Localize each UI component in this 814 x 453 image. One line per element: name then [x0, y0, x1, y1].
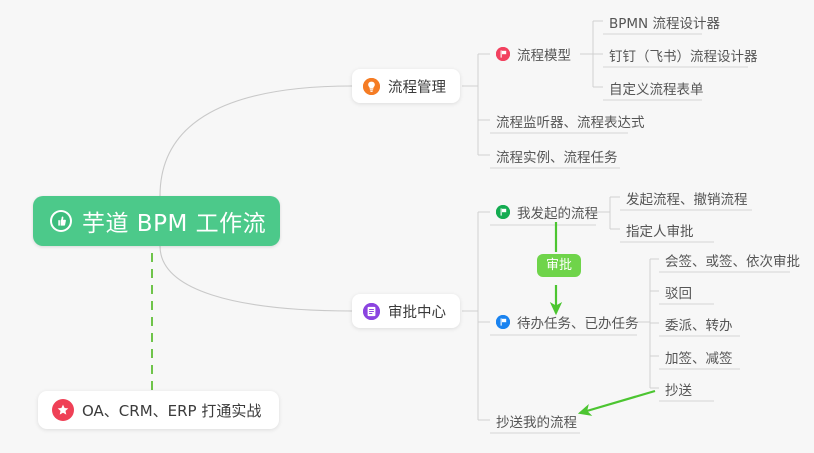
node-custom-process-form[interactable]: 自定义流程表单 [603, 78, 710, 102]
note-label: OA、CRM、ERP 打通实战 [82, 400, 261, 421]
branch-node-approval-center[interactable]: 审批中心 [352, 294, 460, 328]
node-todo-done-tasks[interactable]: 待办任务、已办任务 [490, 312, 645, 336]
document-icon [363, 303, 380, 320]
node-countersign-orsign-sequential[interactable]: 会签、或签、依次审批 [659, 250, 806, 274]
node-label-todo-done-tasks: 待办任务、已办任务 [517, 312, 639, 332]
node-delegate-transfer[interactable]: 委派、转办 [659, 314, 739, 338]
node-process-listener-expression[interactable]: 流程监听器、流程表达式 [490, 111, 651, 135]
star-icon [52, 399, 74, 421]
node-label-my-initiated-processes: 我发起的流程 [517, 202, 598, 222]
thumbs-up-icon [50, 210, 72, 232]
node-add-remove-signer[interactable]: 加签、减签 [659, 347, 739, 371]
flag-icon [496, 315, 510, 329]
node-label-process-model: 流程模型 [517, 44, 571, 64]
node-bpmn-designer[interactable]: BPMN 流程设计器 [603, 12, 726, 36]
node-start-cancel-process[interactable]: 发起流程、撤销流程 [620, 188, 754, 212]
node-cc-to-me-processes[interactable]: 抄送我的流程 [490, 411, 583, 435]
node-assignee-approval[interactable]: 指定人审批 [620, 220, 700, 244]
root-node[interactable]: 芋道 BPM 工作流 [33, 196, 280, 246]
branch-label-process-management: 流程管理 [388, 76, 446, 97]
lightbulb-icon [363, 78, 380, 95]
node-reject[interactable]: 驳回 [659, 282, 698, 306]
node-cc[interactable]: 抄送 [659, 379, 698, 403]
node-my-initiated-processes[interactable]: 我发起的流程 [490, 202, 604, 226]
node-dingtalk-feishu-designer[interactable]: 钉钉（飞书）流程设计器 [603, 45, 764, 69]
branch-label-approval-center: 审批中心 [388, 301, 446, 322]
cc-link-arrow [580, 391, 655, 413]
root-label: 芋道 BPM 工作流 [82, 204, 266, 238]
tag-approval: 审批 [537, 254, 581, 277]
node-process-instance-task[interactable]: 流程实例、流程任务 [490, 146, 624, 170]
mindmap-canvas: 芋道 BPM 工作流 OA、CRM、ERP 打通实战 流程管理 [0, 0, 814, 453]
node-process-model[interactable]: 流程模型 [490, 44, 577, 68]
note-node[interactable]: OA、CRM、ERP 打通实战 [38, 391, 279, 429]
flag-icon [496, 205, 510, 219]
flag-icon [496, 47, 510, 61]
branch-node-process-management[interactable]: 流程管理 [352, 69, 460, 103]
